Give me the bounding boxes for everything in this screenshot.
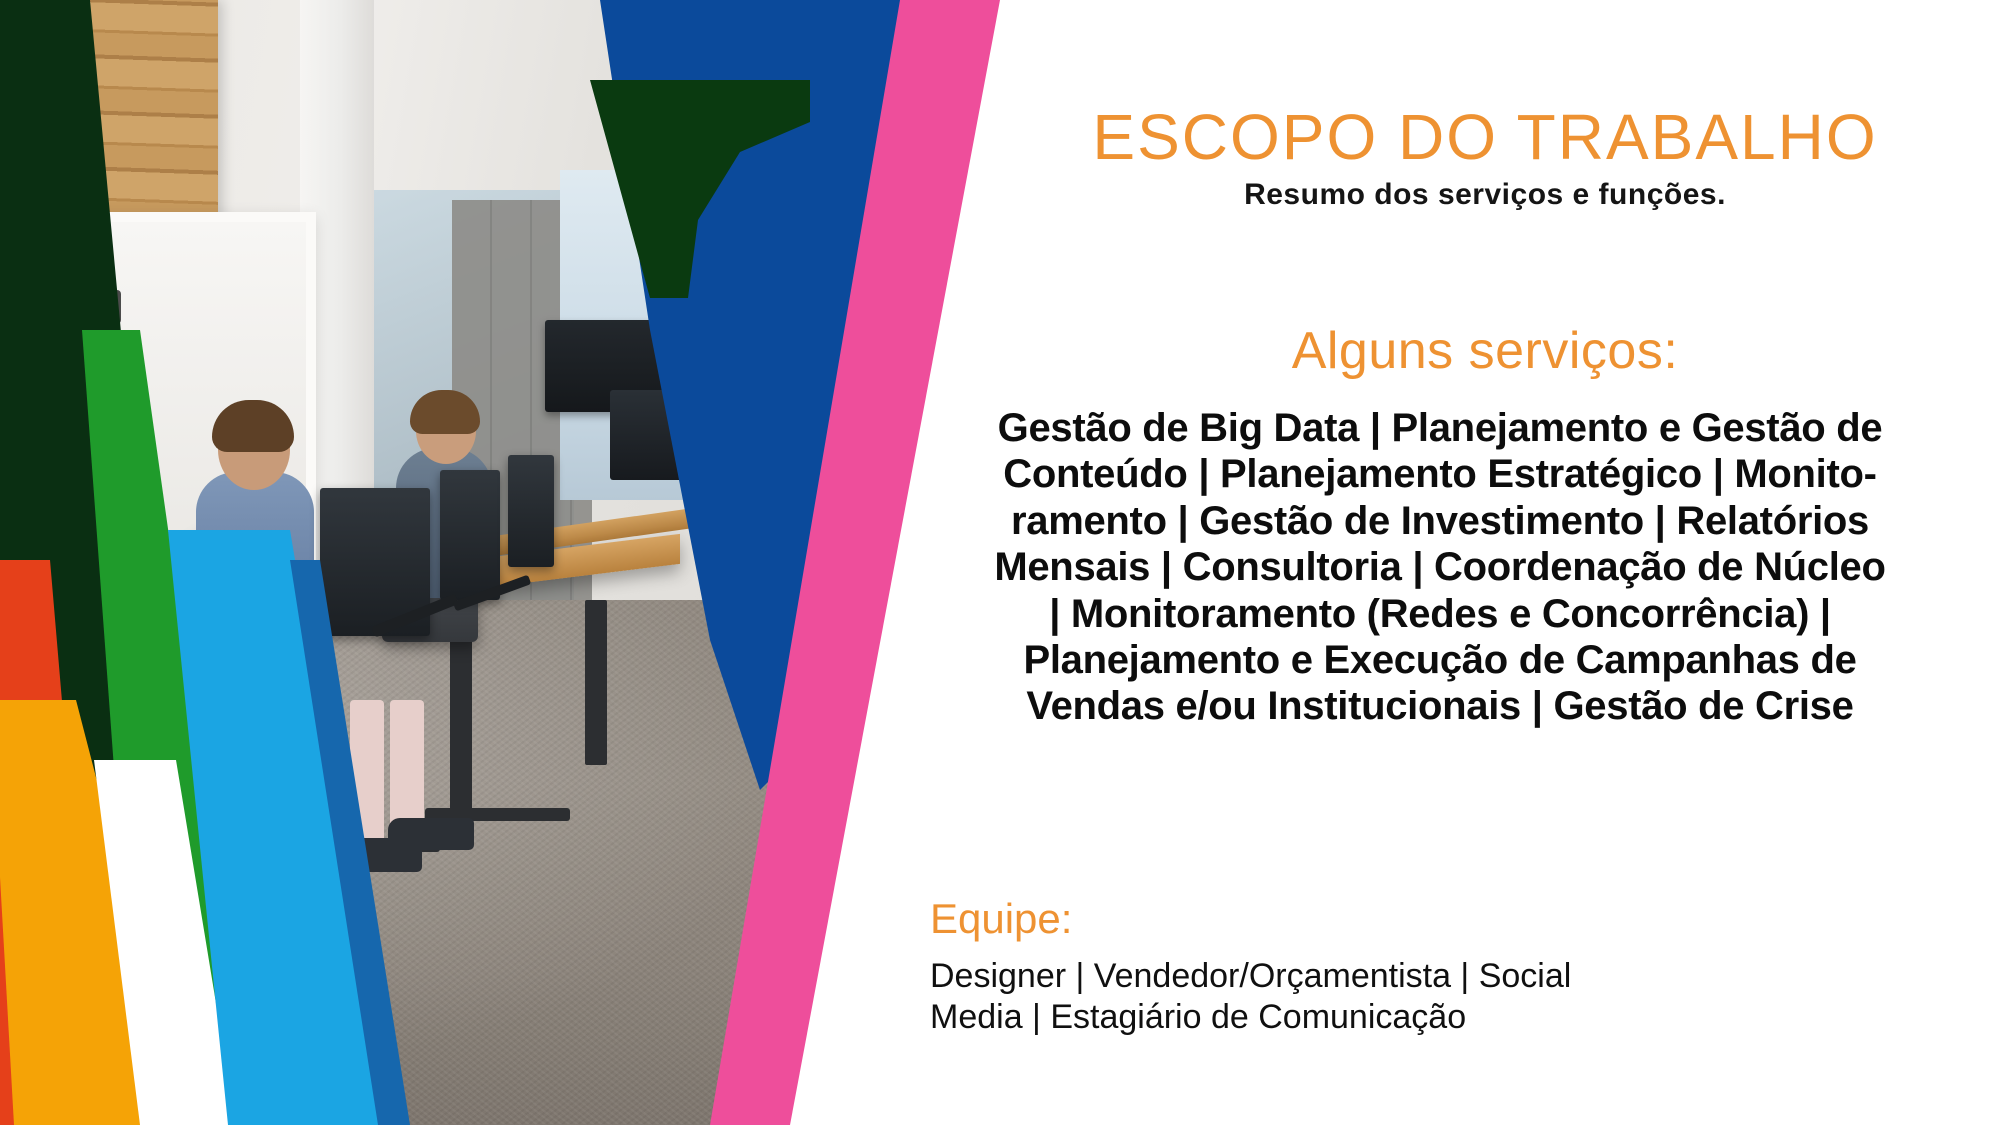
services-line: ramento | Gestão de Investimento | Relat… xyxy=(910,498,1970,544)
slide-canvas: EXIT xyxy=(0,0,2000,1125)
photo-desk-leg xyxy=(450,628,472,818)
services-line: Conteúdo | Planejamento Estratégico | Mo… xyxy=(910,451,1970,497)
photo-desk-leg xyxy=(585,600,607,765)
team-line: Media | Estagiário de Comunicação xyxy=(930,997,1790,1038)
photo-shoe xyxy=(388,818,474,850)
photo-desk-monitor xyxy=(508,455,554,567)
photo-desk-monitor xyxy=(440,470,500,600)
services-list: Gestão de Big Data | Planejamento e Gest… xyxy=(910,405,1970,730)
services-line: Mensais | Consultoria | Coordenação de N… xyxy=(910,544,1970,590)
content-area: ESCOPO DO TRABALHO Resumo dos serviços e… xyxy=(880,0,2000,1125)
services-line: Planejamento e Execução de Campanhas de xyxy=(910,637,1970,683)
page-subtitle: Resumo dos serviços e funções. xyxy=(1020,178,1950,211)
team-list: Designer | Vendedor/Orçamentista | Socia… xyxy=(930,956,1790,1039)
services-line: Gestão de Big Data | Planejamento e Gest… xyxy=(910,405,1970,451)
page-title: ESCOPO DO TRABALHO xyxy=(1020,105,1950,169)
services-line: | Monitoramento (Redes e Concorrência) | xyxy=(910,591,1970,637)
services-heading: Alguns serviços: xyxy=(1020,325,1950,377)
team-heading: Equipe: xyxy=(930,898,1072,940)
team-line: Designer | Vendedor/Orçamentista | Socia… xyxy=(930,956,1790,997)
services-line: Vendas e/ou Institucionais | Gestão de C… xyxy=(910,683,1970,729)
